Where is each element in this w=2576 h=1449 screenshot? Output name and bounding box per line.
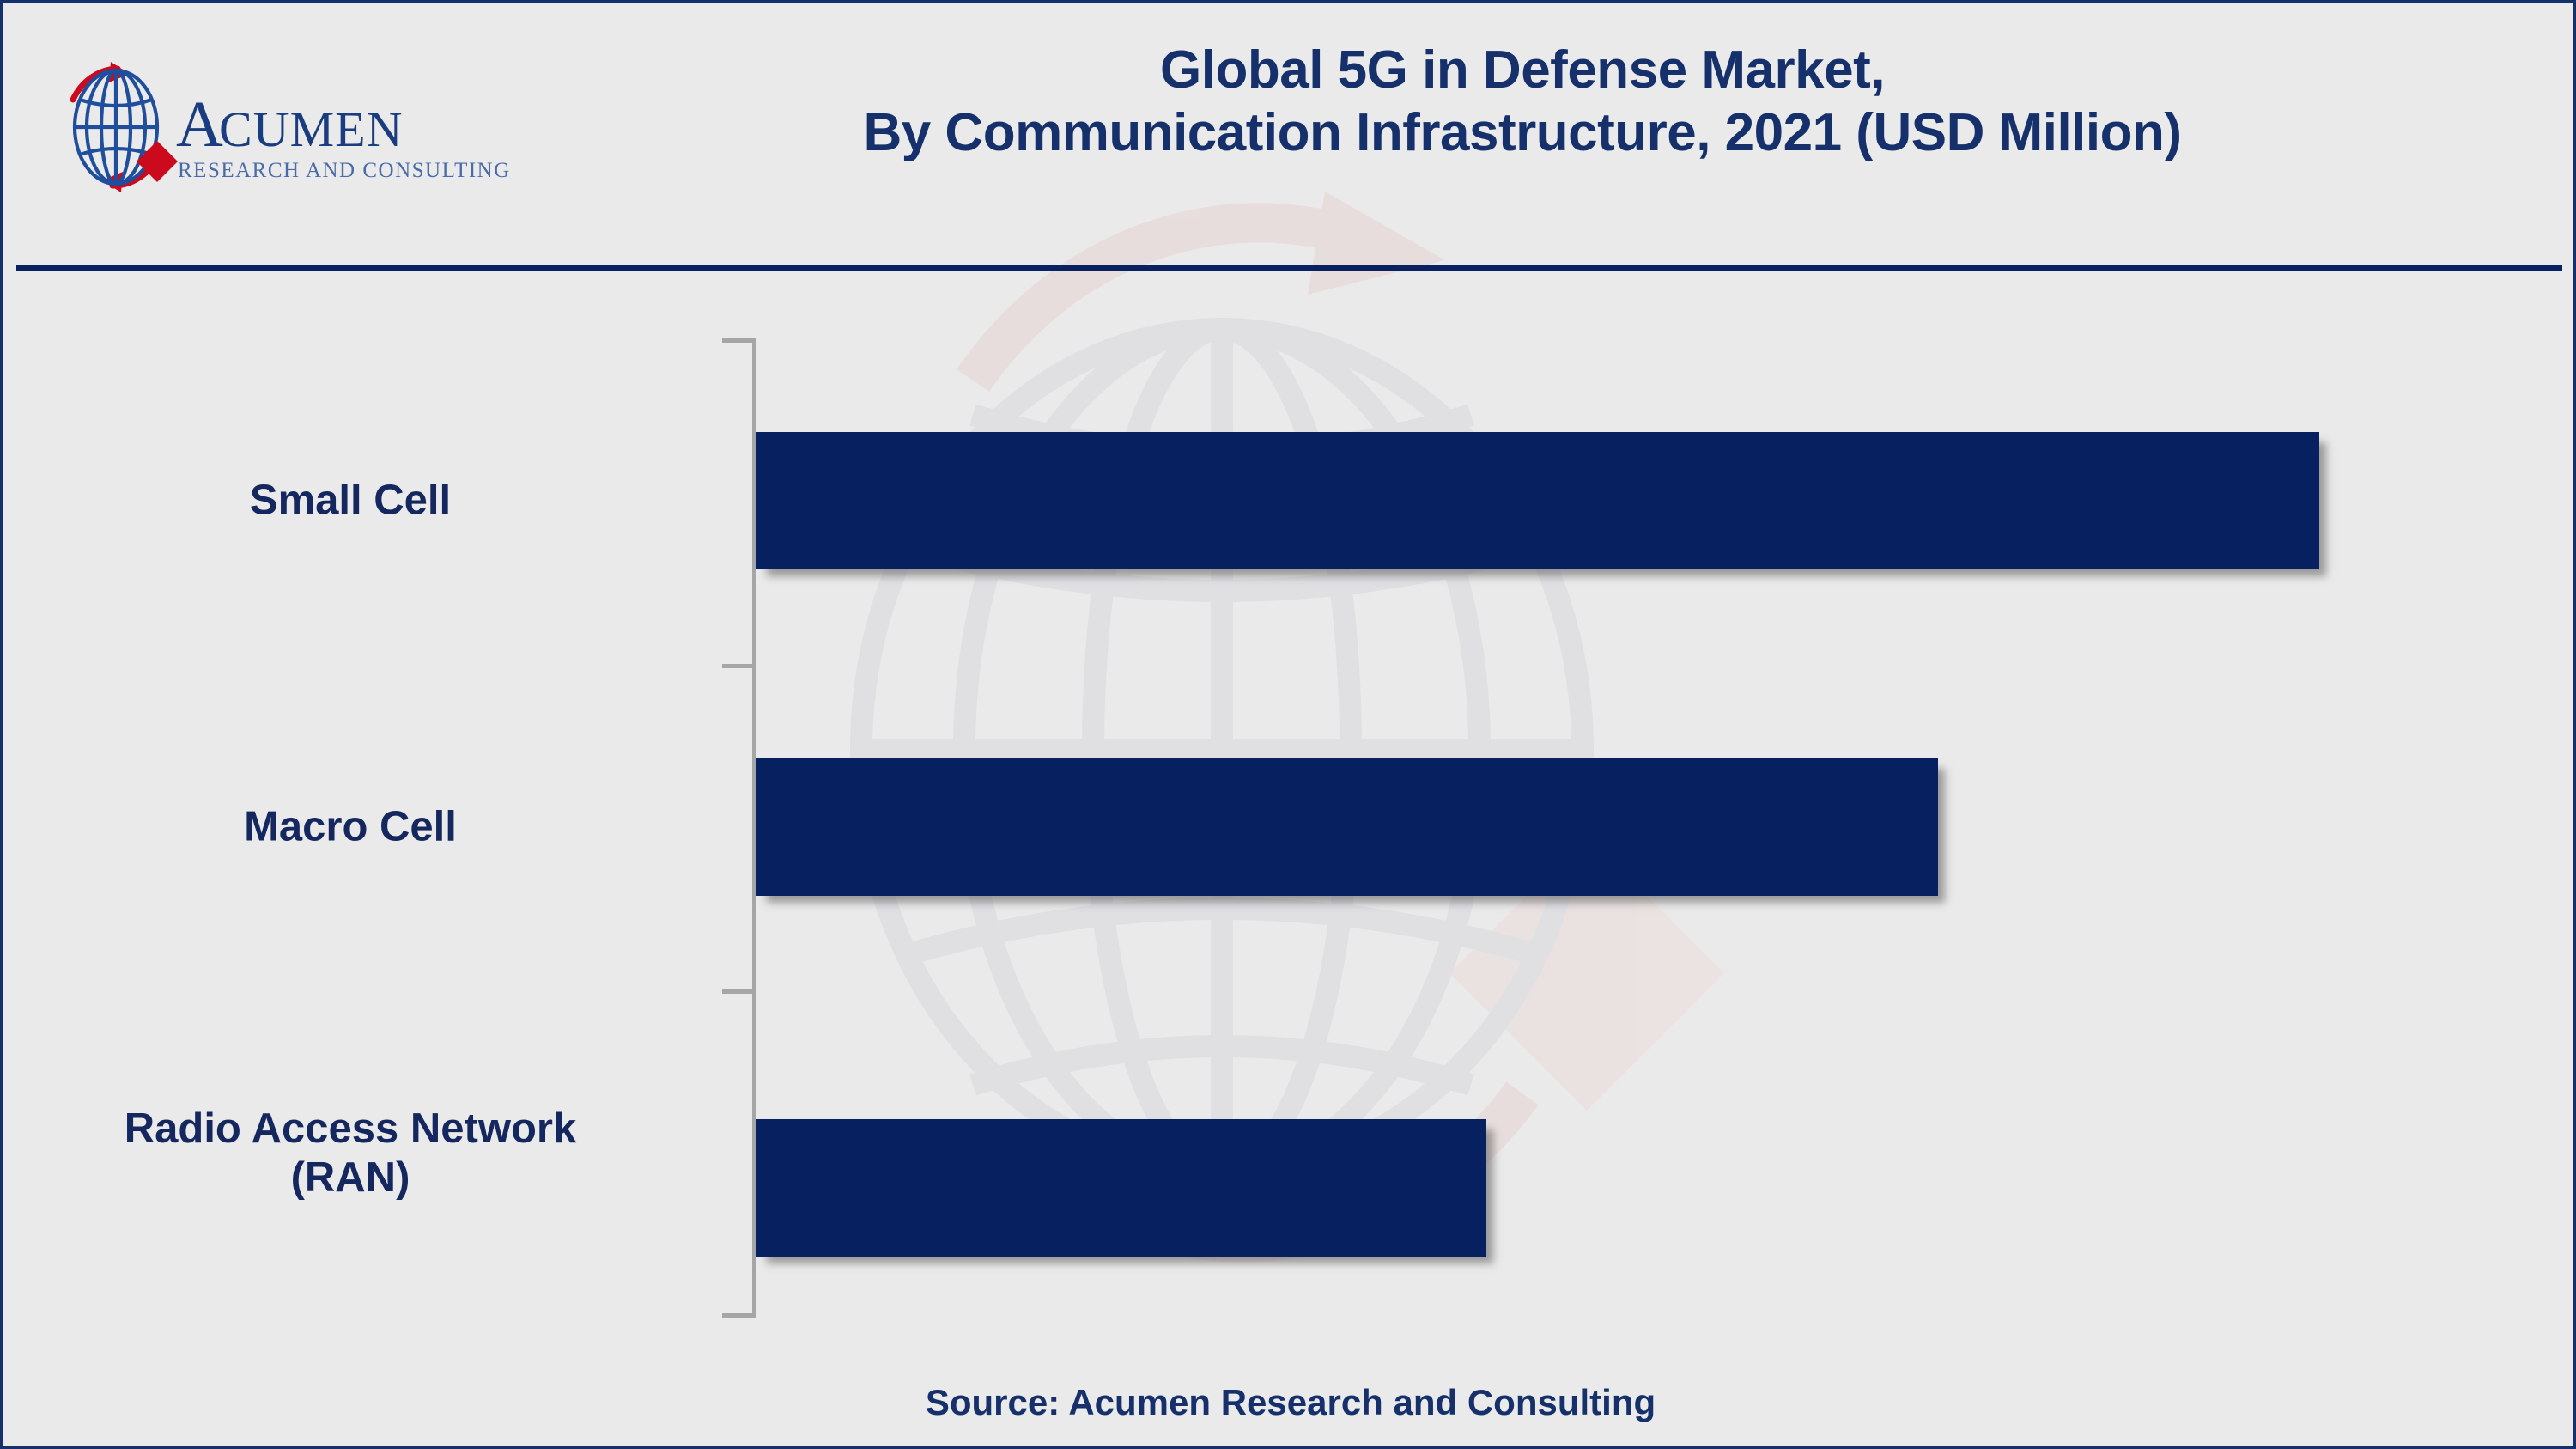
title-line-1: Global 5G in Defense Market, <box>655 39 2390 101</box>
axis-tick-2 <box>722 989 752 994</box>
chart-figure: A CUMEN RESEARCH AND CONSULTING Global 5… <box>0 0 2576 1449</box>
figure-header: A CUMEN RESEARCH AND CONSULTING Global 5… <box>3 3 2576 260</box>
category-label-ran: Radio Access Network (RAN) <box>0 1105 737 1202</box>
bar-macro-cell[interactable] <box>756 758 1938 896</box>
axis-tick-3 <box>722 1313 752 1318</box>
bar-ran[interactable] <box>756 1119 1486 1257</box>
category-label-ran-line2: (RAN) <box>291 1154 410 1201</box>
acumen-logo: A CUMEN RESEARCH AND CONSULTING <box>47 50 528 204</box>
svg-text:RESEARCH AND CONSULTING: RESEARCH AND CONSULTING <box>178 159 511 182</box>
svg-text:CUMEN: CUMEN <box>219 101 403 157</box>
source-note: Source: Acumen Research and Consulting <box>3 1382 2576 1423</box>
axis-tick-0 <box>722 338 752 343</box>
bar-small-cell[interactable] <box>756 432 2319 569</box>
title-line-2: By Communication Infrastructure, 2021 (U… <box>655 101 2390 164</box>
category-label-small-cell: Small Cell <box>0 477 737 526</box>
category-label-macro-cell: Macro Cell <box>0 803 737 852</box>
svg-text:A: A <box>176 88 224 161</box>
header-divider <box>16 265 2562 271</box>
category-label-ran-line1: Radio Access Network <box>125 1105 577 1152</box>
axis-tick-1 <box>722 664 752 668</box>
page-title: Global 5G in Defense Market, By Communic… <box>655 39 2390 164</box>
